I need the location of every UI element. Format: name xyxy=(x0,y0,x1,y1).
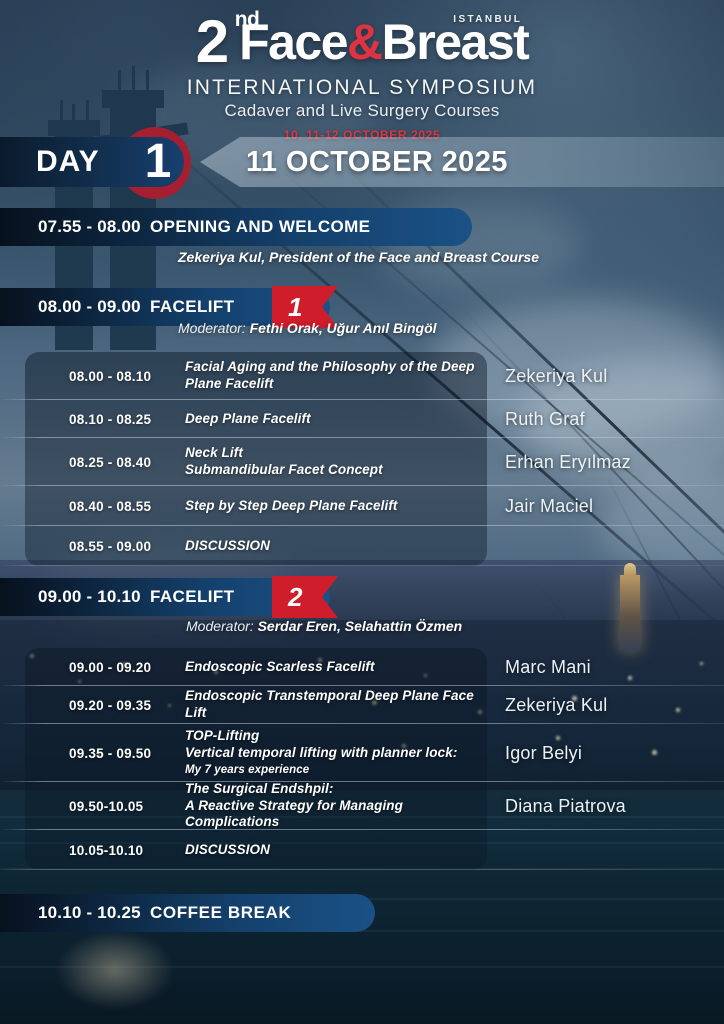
talk-title-line3: My 7 years experience xyxy=(185,764,309,776)
opening-time: 07.55 - 08.00 xyxy=(0,217,150,237)
talk-speaker: Igor Belyi xyxy=(505,743,582,764)
table-row: 08.55 - 09.00 DISCUSSION xyxy=(25,526,487,566)
table-row: 08.25 - 08.40 Neck Lift Submandibular Fa… xyxy=(25,438,487,486)
talk-title: Endoscopic Transtemporal Deep Plane Face… xyxy=(185,688,487,722)
talk-title-line2: A Reactive Strategy for Managing Complic… xyxy=(185,798,403,830)
opening-note-text: Zekeriya Kul, President of the Face and … xyxy=(178,249,539,265)
edition-superscript: nd xyxy=(235,8,260,32)
talk-title-line1: Facial Aging and the Philosophy of the D… xyxy=(185,359,475,391)
session-1-moderator: Moderator: Fethi Orak, Uğur Anıl Bingöl xyxy=(178,320,437,336)
talk-speaker: Zekeriya Kul xyxy=(505,366,607,387)
table-row: 09.50-10.05 The Surgical Endshpil: A Rea… xyxy=(25,782,487,830)
table-row: 08.40 - 08.55 Step by Step Deep Plane Fa… xyxy=(25,486,487,526)
session-bar-coffee-break: 10.10 - 10.25 COFFEE BREAK xyxy=(0,894,375,932)
talk-title-line1: TOP-Lifting xyxy=(185,728,259,743)
session-2-name: FACELIFT xyxy=(150,587,234,607)
session-1-number: 1 xyxy=(288,292,302,323)
session-1-name: FACELIFT xyxy=(150,297,234,317)
talk-title-line2: Submandibular Facet Concept xyxy=(185,462,383,477)
talk-title-line1: The Surgical Endshpil: xyxy=(185,781,333,796)
session-2-moderator-label: Moderator: xyxy=(186,618,254,634)
opening-title: OPENING AND WELCOME xyxy=(150,217,370,237)
day-date-band: 11 OCTOBER 2025 xyxy=(200,137,724,187)
talk-time: 08.55 - 09.00 xyxy=(69,539,185,554)
talk-time: 10.05-10.10 xyxy=(69,843,185,858)
talk-title-line1: Deep Plane Facelift xyxy=(185,411,311,426)
edition-number: 2 xyxy=(196,12,227,72)
talk-title: Step by Step Deep Plane Facelift xyxy=(185,498,487,515)
talk-speaker: Erhan Eryılmaz xyxy=(505,452,631,473)
city-tag: ISTANBUL xyxy=(453,14,522,25)
coffee-break-time: 10.10 - 10.25 xyxy=(0,903,150,923)
talk-title: Neck Lift Submandibular Facet Concept xyxy=(185,445,487,479)
event-logo: nd 2Face&Breast ISTANBUL xyxy=(196,12,529,72)
talk-title: Deep Plane Facelift xyxy=(185,411,487,428)
talk-title: Facial Aging and the Philosophy of the D… xyxy=(185,359,487,393)
event-subtitle: INTERNATIONAL SYMPOSIUM xyxy=(0,76,724,100)
table-row: 09.35 - 09.50 TOP-Lifting Vertical tempo… xyxy=(25,724,487,782)
event-subtitle-secondary: Cadaver and Live Surgery Courses xyxy=(0,101,724,121)
talk-title-line1: Neck Lift xyxy=(185,445,243,460)
session-1-moderator-names: Fethi Orak, Uğur Anıl Bingöl xyxy=(250,320,437,336)
session-1-talks-panel: 08.00 - 08.10 Facial Aging and the Philo… xyxy=(25,352,487,566)
session-2-time: 09.00 - 10.10 xyxy=(0,587,150,607)
session-bar-opening: 07.55 - 08.00 OPENING AND WELCOME xyxy=(0,208,472,246)
talk-speaker: Diana Piatrova xyxy=(505,796,626,817)
session-1-time: 08.00 - 09.00 xyxy=(0,297,150,317)
table-row: 09.20 - 09.35 Endoscopic Transtemporal D… xyxy=(25,686,487,724)
talk-time: 08.10 - 08.25 xyxy=(69,412,185,427)
talk-speaker: Jair Maciel xyxy=(505,496,593,517)
session-2-talks-panel: 09.00 - 09.20 Endoscopic Scarless Faceli… xyxy=(25,648,487,870)
talk-title-line2: Vertical temporal lifting with planner l… xyxy=(185,745,457,760)
brand-ampersand: & xyxy=(347,14,382,70)
coffee-break-title: COFFEE BREAK xyxy=(150,903,291,923)
talk-title: DISCUSSION xyxy=(185,538,487,555)
talk-time: 09.35 - 09.50 xyxy=(69,746,185,761)
day-label-text: DAY xyxy=(36,145,100,179)
talk-title-line1: Endoscopic Scarless Facelift xyxy=(185,659,375,674)
table-row: 08.00 - 08.10 Facial Aging and the Philo… xyxy=(25,352,487,400)
talk-time: 08.00 - 08.10 xyxy=(69,369,185,384)
session-2-number: 2 xyxy=(288,582,302,613)
table-row: 09.00 - 09.20 Endoscopic Scarless Faceli… xyxy=(25,648,487,686)
talk-title-line1: DISCUSSION xyxy=(185,538,270,553)
talk-time: 08.40 - 08.55 xyxy=(69,499,185,514)
session-2-rows: 09.00 - 09.20 Endoscopic Scarless Faceli… xyxy=(25,648,487,870)
symposium-program-page: nd 2Face&Breast ISTANBUL INTERNATIONAL S… xyxy=(0,0,724,1024)
talk-time: 09.00 - 09.20 xyxy=(69,660,185,675)
talk-time: 08.25 - 08.40 xyxy=(69,455,185,470)
talk-title: Endoscopic Scarless Facelift xyxy=(185,659,487,676)
talk-title: DISCUSSION xyxy=(185,842,487,859)
day-number-text: 1 xyxy=(138,131,178,193)
talk-title-line1: Endoscopic Transtemporal Deep Plane Face… xyxy=(185,688,474,720)
day-date-text: 11 OCTOBER 2025 xyxy=(246,146,508,179)
talk-speaker: Marc Mani xyxy=(505,657,591,678)
session-1-moderator-label: Moderator: xyxy=(178,320,246,336)
opening-note: Zekeriya Kul, President of the Face and … xyxy=(178,249,539,265)
talk-speaker: Zekeriya Kul xyxy=(505,695,607,716)
talk-speaker: Ruth Graf xyxy=(505,409,585,430)
session-2-moderator-names: Serdar Eren, Selahattin Özmen xyxy=(258,618,463,634)
talk-title-line1: Step by Step Deep Plane Facelift xyxy=(185,498,398,513)
table-row: 08.10 - 08.25 Deep Plane Facelift Ruth G… xyxy=(25,400,487,438)
talk-title: TOP-Lifting Vertical temporal lifting wi… xyxy=(185,728,487,779)
table-row: 10.05-10.10 DISCUSSION xyxy=(25,830,487,870)
talk-title-line1: DISCUSSION xyxy=(185,842,270,857)
session-2-moderator: Moderator: Serdar Eren, Selahattin Özmen xyxy=(186,618,462,634)
talk-time: 09.50-10.05 xyxy=(69,799,185,814)
talk-time: 09.20 - 09.35 xyxy=(69,698,185,713)
talk-title: The Surgical Endshpil: A Reactive Strate… xyxy=(185,781,487,832)
event-header: nd 2Face&Breast ISTANBUL INTERNATIONAL S… xyxy=(0,0,724,128)
day-header-bar: 11 OCTOBER 2025 DAY 1 xyxy=(0,131,724,193)
session-1-rows: 08.00 - 08.10 Facial Aging and the Philo… xyxy=(25,352,487,566)
